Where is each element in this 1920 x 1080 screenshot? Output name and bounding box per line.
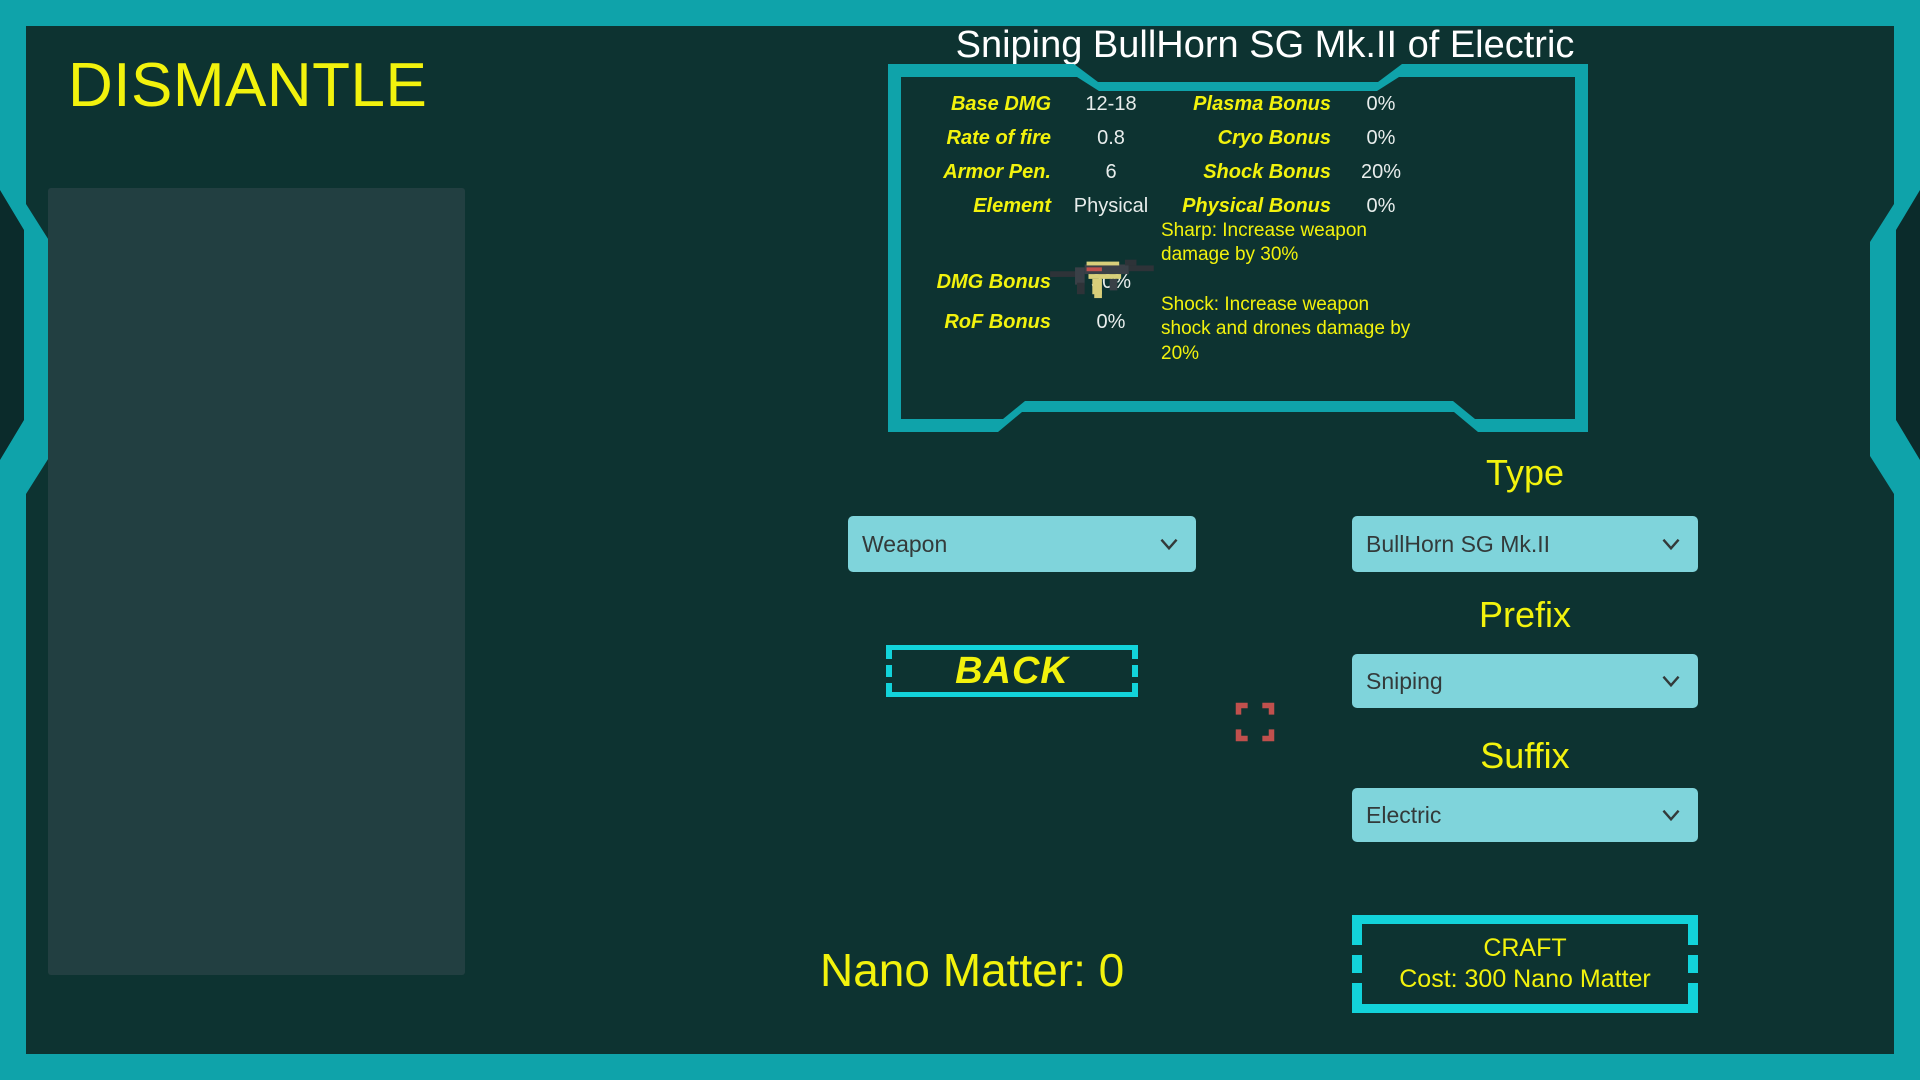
craft-button[interactable]: CRAFT Cost: 300 Nano Matter bbox=[1352, 915, 1698, 1013]
assault-rifle-icon bbox=[1041, 252, 1159, 300]
stat-label: Cryo Bonus bbox=[1161, 127, 1331, 150]
chevron-down-icon bbox=[1156, 531, 1182, 557]
stat-label: Physical Bonus bbox=[1161, 195, 1331, 218]
inventory-panel[interactable] bbox=[48, 188, 465, 975]
stat-row: Element Physical bbox=[901, 195, 1171, 218]
stat-label: DMG Bonus bbox=[901, 271, 1051, 294]
prefix-dropdown-value: Sniping bbox=[1366, 668, 1658, 695]
back-button[interactable]: BACK bbox=[886, 645, 1138, 697]
stat-label: Rate of fire bbox=[901, 127, 1051, 150]
stat-value: 12-18 bbox=[1051, 93, 1171, 116]
stat-value: 6 bbox=[1051, 161, 1171, 184]
chevron-down-icon bbox=[1658, 668, 1684, 694]
page-title: DISMANTLE bbox=[68, 55, 427, 117]
craft-button-title: CRAFT bbox=[1483, 933, 1566, 964]
stat-value: 20% bbox=[1331, 161, 1431, 184]
prefix-dropdown[interactable]: Sniping bbox=[1352, 654, 1698, 708]
stat-value: 0% bbox=[1331, 127, 1431, 150]
stat-row: Plasma Bonus 0% bbox=[1161, 93, 1431, 116]
stat-row: RoF Bonus 0% bbox=[901, 311, 1171, 334]
nano-matter-counter: Nano Matter: 0 bbox=[820, 943, 1124, 997]
chevron-down-icon bbox=[1658, 802, 1684, 828]
suffix-dropdown-value: Electric bbox=[1366, 802, 1658, 829]
type-label: Type bbox=[1352, 452, 1698, 494]
stat-value: 0% bbox=[1331, 93, 1431, 116]
stat-row: Shock Bonus 20% bbox=[1161, 161, 1431, 184]
suffix-label: Suffix bbox=[1352, 735, 1698, 777]
stat-row: Armor Pen. 6 bbox=[901, 161, 1171, 184]
stat-label: Plasma Bonus bbox=[1161, 93, 1331, 116]
prefix-label: Prefix bbox=[1352, 594, 1698, 636]
item-stats-panel: Base DMG 12-18 Rate of fire 0.8 Armor Pe… bbox=[888, 64, 1588, 432]
item-description-shock: Shock: Increase weapon shock and drones … bbox=[1161, 293, 1411, 366]
item-name-title: Sniping BullHorn SG Mk.II of Electric bbox=[850, 24, 1680, 67]
stat-label: Armor Pen. bbox=[901, 161, 1051, 184]
stat-value: Physical bbox=[1051, 195, 1171, 218]
stat-label: Base DMG bbox=[901, 93, 1051, 116]
type-dropdown[interactable]: BullHorn SG Mk.II bbox=[1352, 516, 1698, 572]
back-button-label: BACK bbox=[955, 650, 1069, 693]
stat-row: Physical Bonus 0% bbox=[1161, 195, 1431, 218]
stat-row: Base DMG 12-18 bbox=[901, 93, 1171, 116]
target-bracket-icon bbox=[1233, 700, 1277, 744]
stat-value: 0% bbox=[1331, 195, 1431, 218]
stat-value: 0% bbox=[1051, 311, 1171, 334]
chevron-down-icon bbox=[1658, 531, 1684, 557]
category-dropdown[interactable]: Weapon bbox=[848, 516, 1196, 572]
craft-button-cost: Cost: 300 Nano Matter bbox=[1399, 964, 1651, 995]
item-description-sharp: Sharp: Increase weapon damage by 30% bbox=[1161, 219, 1411, 268]
stat-label: Element bbox=[901, 195, 1051, 218]
stat-row: Rate of fire 0.8 bbox=[901, 127, 1171, 150]
crafting-screen: DISMANTLE Sniping BullHorn SG Mk.II of E… bbox=[0, 0, 1920, 1080]
stat-label: RoF Bonus bbox=[901, 311, 1051, 334]
category-dropdown-value: Weapon bbox=[862, 531, 1156, 558]
stat-row: Cryo Bonus 0% bbox=[1161, 127, 1431, 150]
stat-value: 0.8 bbox=[1051, 127, 1171, 150]
stat-label: Shock Bonus bbox=[1161, 161, 1331, 184]
suffix-dropdown[interactable]: Electric bbox=[1352, 788, 1698, 842]
type-dropdown-value: BullHorn SG Mk.II bbox=[1366, 531, 1658, 558]
